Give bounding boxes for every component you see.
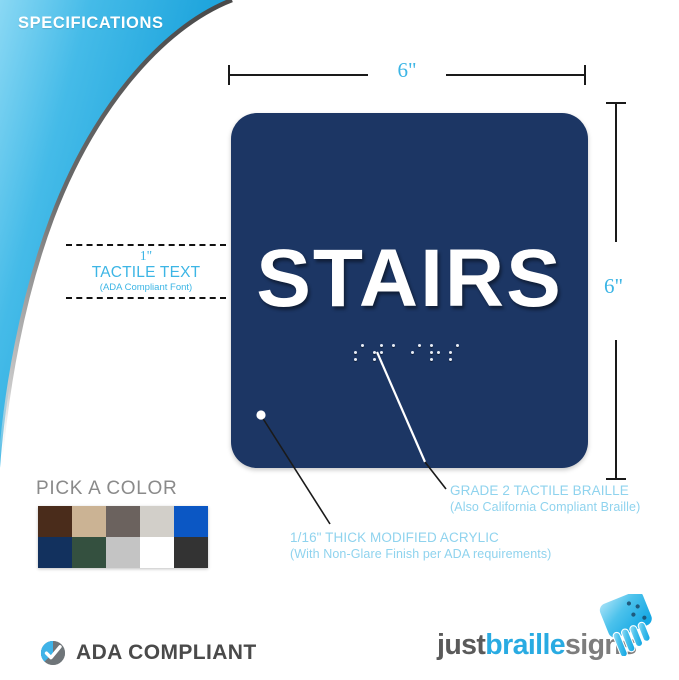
- braille-dot: [449, 358, 452, 361]
- braille-cell: [373, 343, 385, 363]
- braille-cell: [392, 343, 404, 363]
- callout-acrylic-line2: (With Non-Glare Finish per ADA requireme…: [290, 546, 551, 562]
- tactile-text-callout: 1" TACTILE TEXT (ADA Compliant Font): [66, 244, 226, 299]
- braille-dot: [354, 351, 357, 354]
- callout-braille-line2: (Also California Compliant Braille): [450, 499, 640, 515]
- braille-dot: [380, 351, 383, 354]
- color-swatch-grid[interactable]: [38, 506, 208, 568]
- braille-dot: [411, 351, 414, 354]
- specifications-title: SPECIFICATIONS: [18, 14, 164, 33]
- width-dimension: 6": [228, 62, 586, 88]
- braille-row: [354, 343, 474, 365]
- color-swatch-brown[interactable]: [38, 506, 72, 537]
- braille-dot: [430, 344, 433, 347]
- braille-dot: [456, 344, 459, 347]
- braille-cell: [411, 343, 423, 363]
- dimension-rule-right: [446, 74, 586, 76]
- callout-braille-line1: GRADE 2 TACTILE BRAILLE: [450, 482, 640, 499]
- color-swatch-tan[interactable]: [72, 506, 106, 537]
- braille-dot: [380, 344, 383, 347]
- braille-dot: [354, 358, 357, 361]
- swoosh-edge: [0, 0, 232, 468]
- callout-braille: GRADE 2 TACTILE BRAILLE (Also California…: [450, 482, 640, 515]
- dimension-cap-bottom: [606, 478, 626, 480]
- color-swatch-light-gray[interactable]: [140, 506, 174, 537]
- color-swatch-dark-green[interactable]: [72, 537, 106, 568]
- color-swatch-black[interactable]: [174, 537, 208, 568]
- dimension-cap-right: [584, 65, 586, 85]
- tactile-dash-top: [66, 244, 226, 246]
- height-dimension: 6": [600, 96, 640, 486]
- color-swatch-white[interactable]: [140, 537, 174, 568]
- tactile-subtitle: (ADA Compliant Font): [66, 282, 226, 294]
- color-swatch-blue[interactable]: [174, 506, 208, 537]
- logo-part-just: just: [437, 629, 485, 661]
- dimension-rule-bottom: [615, 340, 617, 480]
- tactile-dash-bottom: [66, 297, 226, 299]
- width-dimension-label: 6": [228, 58, 586, 83]
- braille-cell: [430, 343, 442, 363]
- callout-acrylic-line1: 1/16" THICK MODIFIED ACRYLIC: [290, 529, 551, 546]
- braille-cell: [449, 343, 461, 363]
- braille-dot: [361, 344, 364, 347]
- height-dimension-label: 6": [604, 274, 623, 299]
- tactile-title: TACTILE TEXT: [66, 264, 226, 282]
- dimension-rule-top: [615, 102, 617, 242]
- pick-a-color-title: PICK A COLOR: [36, 478, 177, 500]
- ada-compliant-label: ADA COMPLIANT: [76, 641, 257, 665]
- color-swatch-navy[interactable]: [38, 537, 72, 568]
- ada-compliant-badge: ADA COMPLIANT: [40, 640, 257, 666]
- logo-part-braille: braille: [485, 629, 565, 661]
- braille-dot: [392, 344, 395, 347]
- braille-dot: [430, 358, 433, 361]
- braille-cell: [354, 343, 366, 363]
- braille-dot: [437, 351, 440, 354]
- sign-product: STAIRS: [231, 113, 588, 468]
- braille-dot: [373, 358, 376, 361]
- braille-dot: [373, 351, 376, 354]
- braille-dot: [418, 344, 421, 347]
- braille-dot: [449, 351, 452, 354]
- braille-dot: [430, 351, 433, 354]
- tactile-height-label: 1": [66, 249, 226, 264]
- color-swatch-taupe-gray[interactable]: [106, 506, 140, 537]
- swoosh-fill: [0, 0, 232, 468]
- check-badge-icon: [40, 640, 66, 666]
- color-swatch-silver[interactable]: [106, 537, 140, 568]
- specification-sheet: SPECIFICATIONS 6" 6" STAIRS 1" TACTILE T…: [0, 0, 679, 680]
- sign-text: STAIRS: [231, 238, 588, 320]
- brand-logo[interactable]: justbraillesigns: [437, 594, 667, 664]
- callout-acrylic: 1/16" THICK MODIFIED ACRYLIC (With Non-G…: [290, 529, 551, 562]
- braille-hand-icon: [591, 594, 667, 656]
